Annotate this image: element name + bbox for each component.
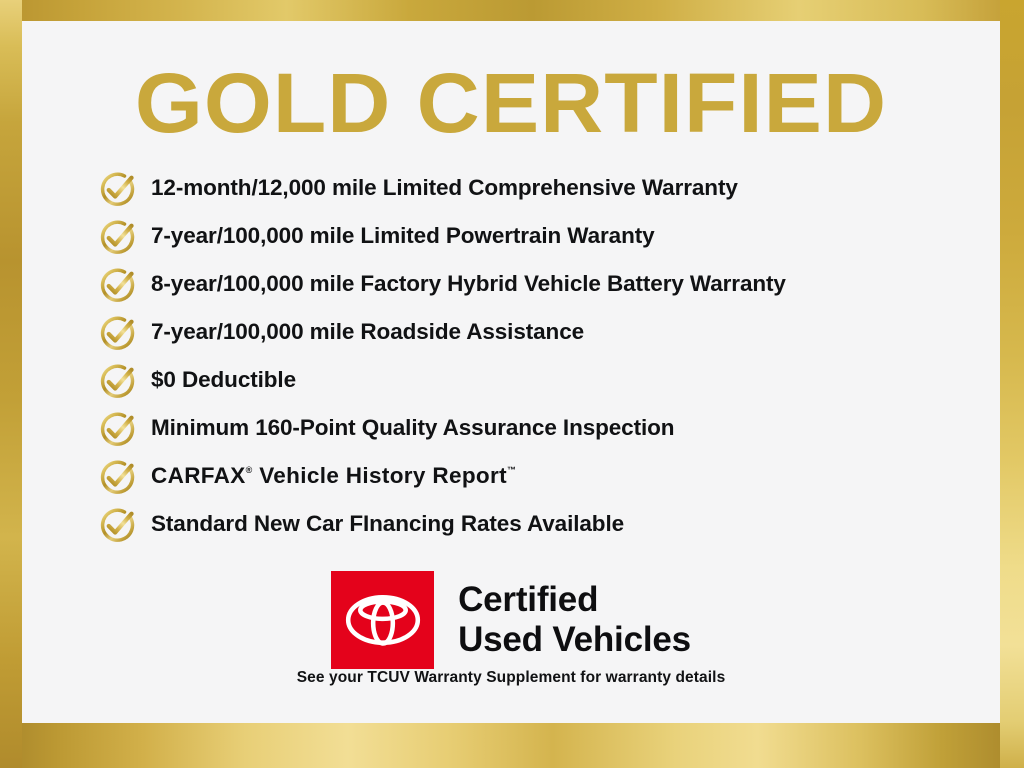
feature-label: Minimum 160-Point Quality Assurance Insp… xyxy=(151,416,674,440)
frame-border-bottom xyxy=(0,723,1024,768)
toyota-emblem-badge xyxy=(331,571,434,669)
feature-label: 8-year/100,000 mile Factory Hybrid Vehic… xyxy=(151,272,786,296)
toyota-wordmark: Certified Used Vehicles xyxy=(458,580,691,660)
page-title: GOLD CERTIFIED xyxy=(2,61,1019,145)
feature-item: $0 Deductible xyxy=(97,356,987,404)
feature-label: 7-year/100,000 mile Limited Powertrain W… xyxy=(151,224,655,248)
feature-item: 8-year/100,000 mile Factory Hybrid Vehic… xyxy=(97,260,987,308)
feature-label: $0 Deductible xyxy=(151,368,296,392)
feature-label: Standard New Car FInancing Rates Availab… xyxy=(151,512,624,536)
wordmark-line-2: Used Vehicles xyxy=(458,620,691,660)
warranty-disclaimer: See your TCUV Warranty Supplement for wa… xyxy=(22,669,1000,687)
check-circle-icon xyxy=(97,265,138,306)
feature-list: 12-month/12,000 mile Limited Comprehensi… xyxy=(97,164,987,548)
check-circle-icon xyxy=(97,313,138,354)
feature-label: 12-month/12,000 mile Limited Comprehensi… xyxy=(151,176,738,200)
check-circle-icon xyxy=(97,457,138,498)
frame-border-top xyxy=(0,0,1024,21)
content-card: GOLD CERTIFIED xyxy=(22,21,1000,723)
toyota-emblem-icon xyxy=(345,592,421,648)
feature-label: 7-year/100,000 mile Roadside Assistance xyxy=(151,320,584,344)
check-circle-icon xyxy=(97,169,138,210)
toyota-certified-lockup: Certified Used Vehicles xyxy=(22,571,1000,669)
check-circle-icon xyxy=(97,505,138,546)
feature-label: CARFAX® Vehicle History Report™ xyxy=(151,464,516,488)
feature-item: 7-year/100,000 mile Roadside Assistance xyxy=(97,308,987,356)
trademark-mark: ™ xyxy=(507,465,516,475)
check-circle-icon xyxy=(97,217,138,258)
check-circle-icon xyxy=(97,409,138,450)
feature-item: 7-year/100,000 mile Limited Powertrain W… xyxy=(97,212,987,260)
feature-item: 12-month/12,000 mile Limited Comprehensi… xyxy=(97,164,987,212)
feature-item: Standard New Car FInancing Rates Availab… xyxy=(97,500,987,548)
feature-item: Minimum 160-Point Quality Assurance Insp… xyxy=(97,404,987,452)
gold-certified-banner: GOLD CERTIFIED xyxy=(0,0,1024,768)
wordmark-line-1: Certified xyxy=(458,580,691,620)
registered-mark: ® xyxy=(246,465,253,475)
check-circle-icon xyxy=(97,361,138,402)
feature-item: CARFAX® Vehicle History Report™ xyxy=(97,452,987,500)
